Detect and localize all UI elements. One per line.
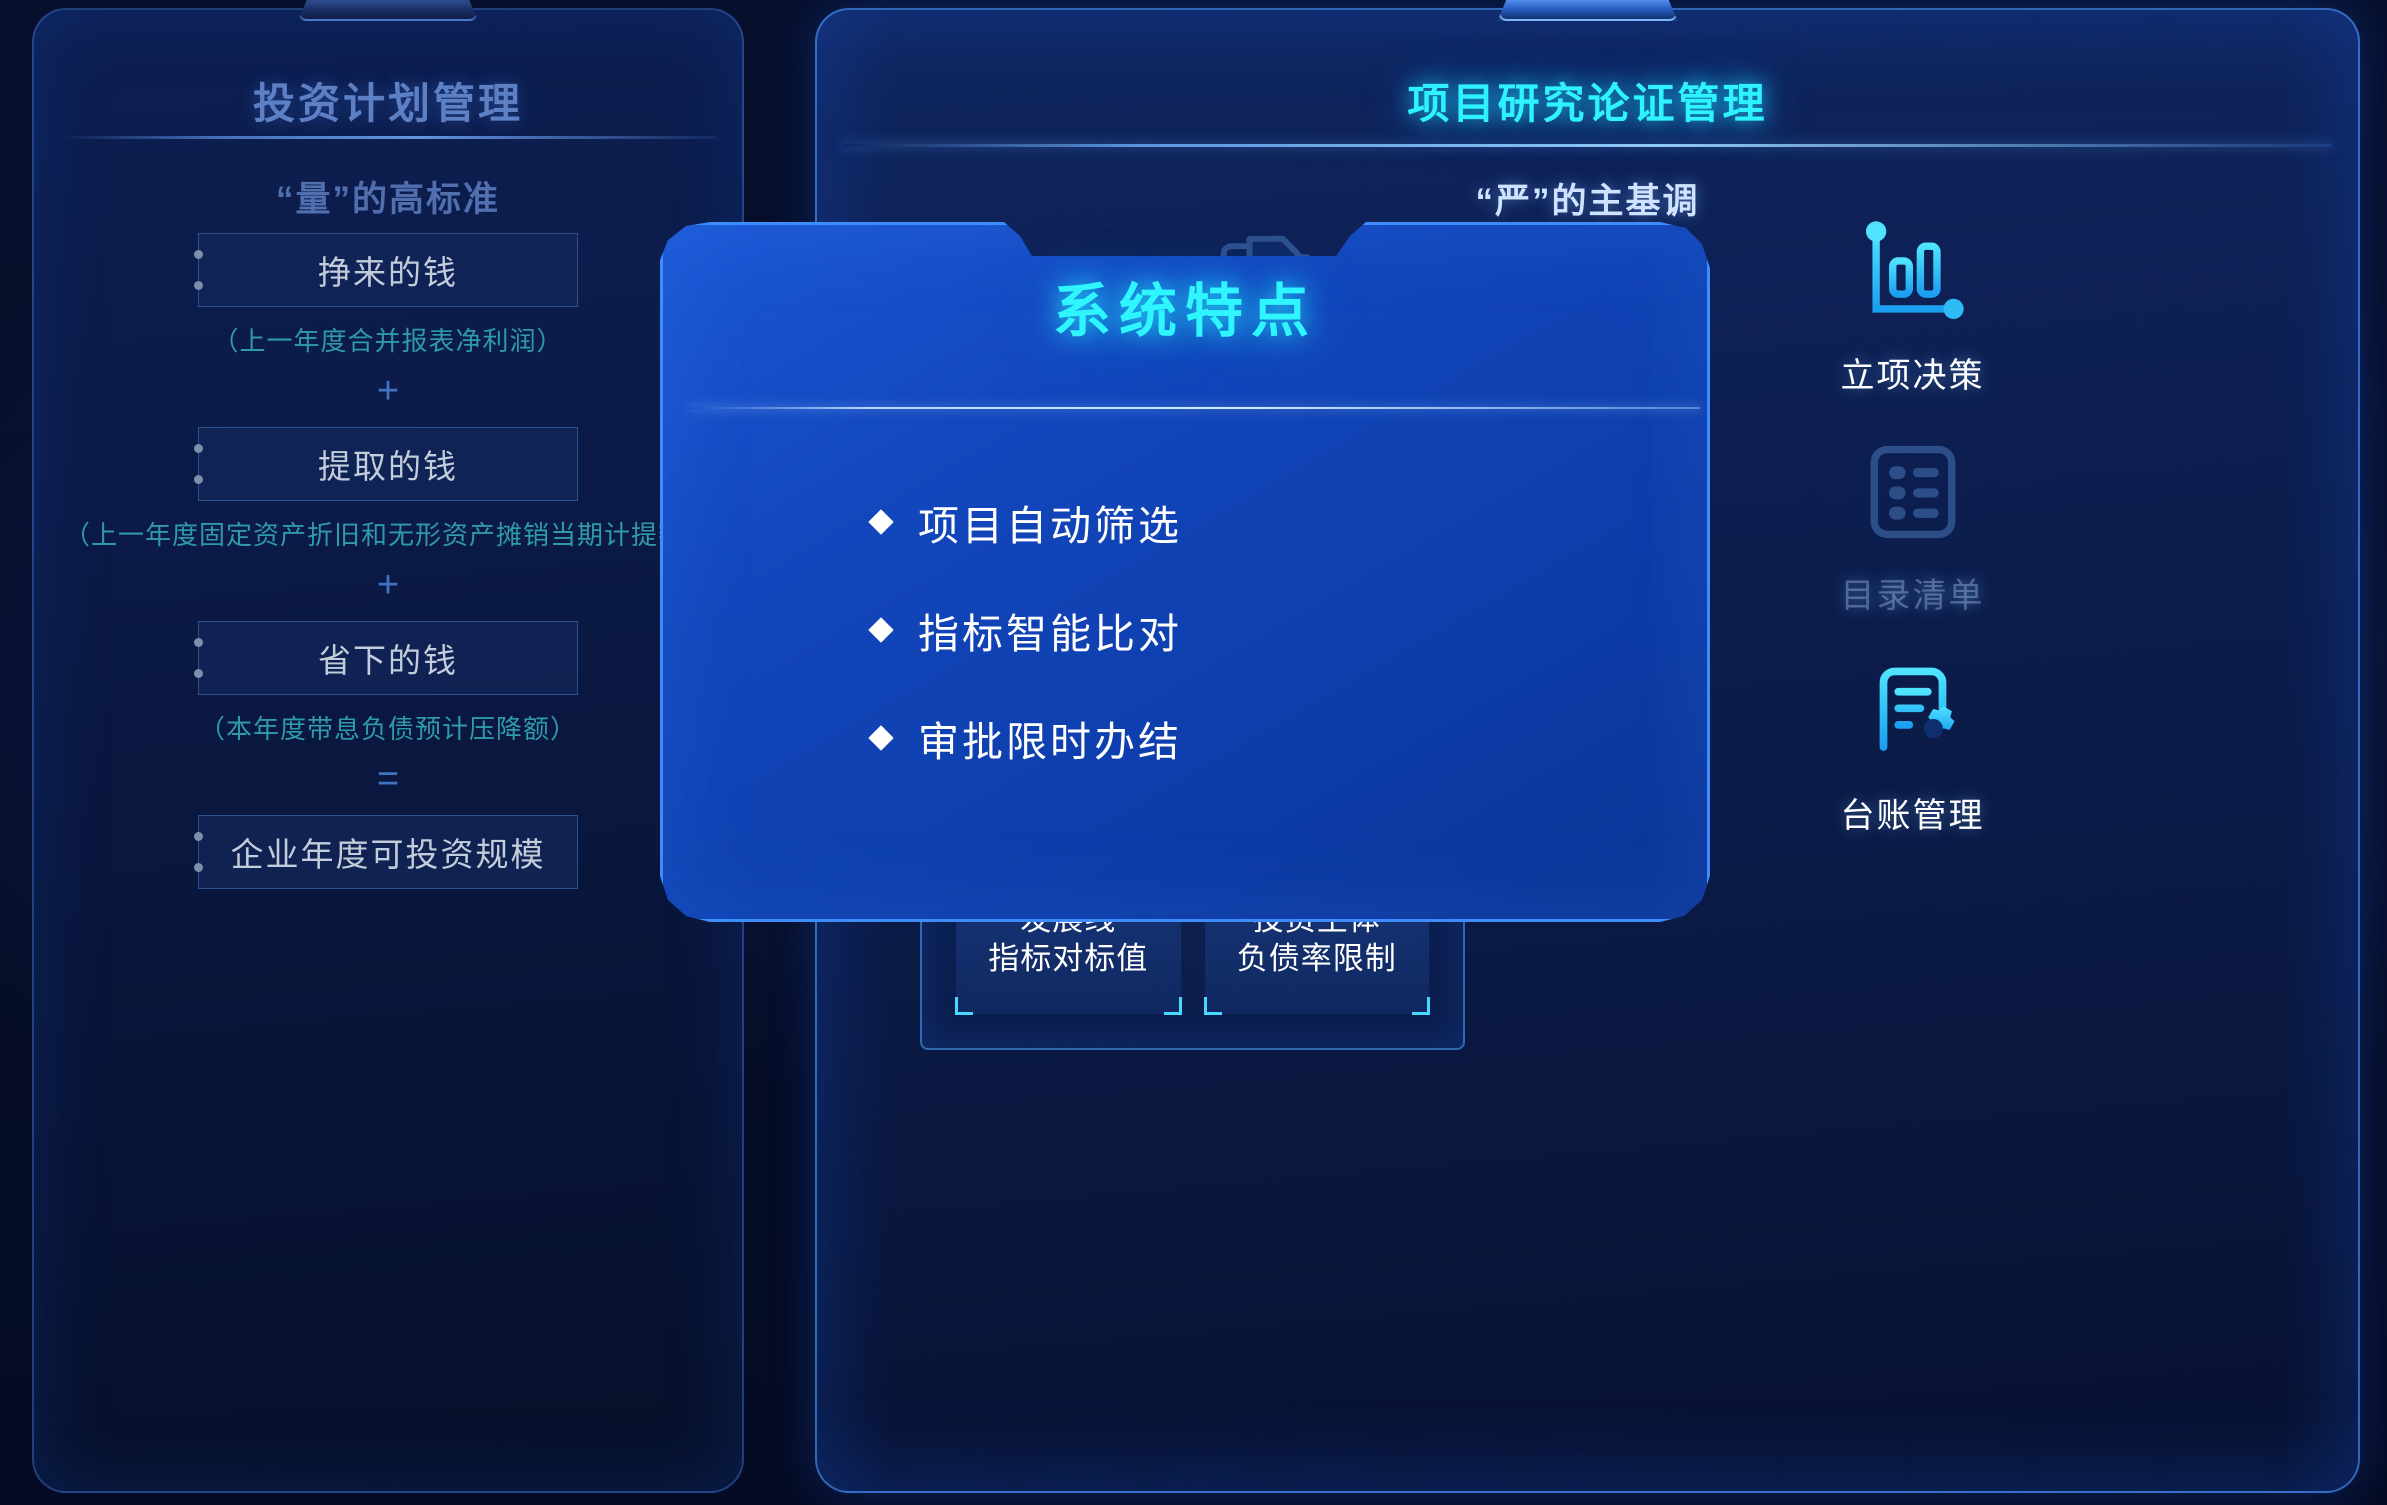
- modal-feature-list: 项目自动筛选 指标智能比对 审批限时办结: [872, 492, 1182, 816]
- panel-left-subhead: “量”的高标准: [32, 171, 744, 222]
- flow-note-earned-money: （上一年度合并报表净利润）: [32, 321, 744, 358]
- flow-note-withdrawn-money: （上一年度固定资产折旧和无形资产摊销当期计提额）: [32, 515, 744, 552]
- flow-operator-plus-2: +: [32, 564, 744, 607]
- ledger-gear-icon: [1854, 648, 1972, 776]
- modal-feature-item-2: 指标智能比对: [872, 600, 1182, 660]
- flow-note-saved-money: （本年度带息负债预计压降额）: [32, 709, 744, 746]
- presentation-slide: 投资计划管理 “量”的高标准 挣来的钱 （上一年度合并报表净利润） + 提取的钱…: [0, 0, 2387, 1505]
- module-catalog-list-label: 目录清单: [1841, 568, 1985, 617]
- modal-feature-item-2-label: 指标智能比对: [918, 600, 1182, 660]
- modal-content: 系统特点 项目自动筛选 指标智能比对 审批限时办结: [660, 222, 1710, 922]
- panel-right-title: 项目研究论证管理: [815, 70, 2360, 131]
- flow-operator-equals: =: [32, 758, 744, 801]
- panel-left-top-notch: [298, 0, 478, 21]
- panel-right-top-notch: [1498, 0, 1678, 21]
- flow-operator-plus-1: +: [32, 370, 744, 413]
- corner-mark-bl: [955, 997, 973, 1015]
- diamond-bullet-icon: [868, 617, 893, 642]
- embed-item-investor-debt-ratio-line2: 负债率限制: [1237, 940, 1397, 979]
- diamond-bullet-icon: [868, 725, 893, 750]
- panel-left-title-rule: [60, 136, 716, 139]
- modal-feature-item-3: 审批限时办结: [872, 708, 1182, 768]
- panel-investment-plan: 投资计划管理 “量”的高标准 挣来的钱 （上一年度合并报表净利润） + 提取的钱…: [32, 8, 744, 1493]
- modal-feature-item-1-label: 项目自动筛选: [918, 492, 1182, 552]
- investment-formula-flow: 挣来的钱 （上一年度合并报表净利润） + 提取的钱 （上一年度固定资产折旧和无形…: [32, 233, 744, 889]
- panel-right-title-rule: [843, 144, 2332, 147]
- diamond-bullet-icon: [868, 509, 893, 534]
- modal-title: 系统特点: [660, 264, 1710, 348]
- flow-box-withdrawn-money: 提取的钱: [198, 427, 578, 501]
- flow-box-earned-money: 挣来的钱: [198, 233, 578, 307]
- corner-mark-bl: [1204, 997, 1222, 1015]
- module-project-decision-label: 立项决策: [1841, 348, 1985, 397]
- flow-box-saved-money: 省下的钱: [198, 621, 578, 695]
- flow-box-annual-capacity: 企业年度可投资规模: [198, 815, 578, 889]
- embed-item-development-line-line2: 指标对标值: [988, 940, 1148, 979]
- panel-left-title: 投资计划管理: [32, 70, 744, 131]
- module-ledger-management-label: 台账管理: [1841, 788, 1985, 837]
- catalog-list-icon: [1854, 428, 1972, 556]
- bar-chart-decision-icon: [1854, 208, 1972, 336]
- modal-title-divider: [688, 407, 1700, 409]
- modal-feature-item-3-label: 审批限时办结: [918, 708, 1182, 768]
- modal-feature-item-1: 项目自动筛选: [872, 492, 1182, 552]
- corner-mark-br: [1412, 997, 1430, 1015]
- corner-mark-br: [1164, 997, 1182, 1015]
- system-features-modal[interactable]: 系统特点 项目自动筛选 指标智能比对 审批限时办结: [660, 222, 1710, 922]
